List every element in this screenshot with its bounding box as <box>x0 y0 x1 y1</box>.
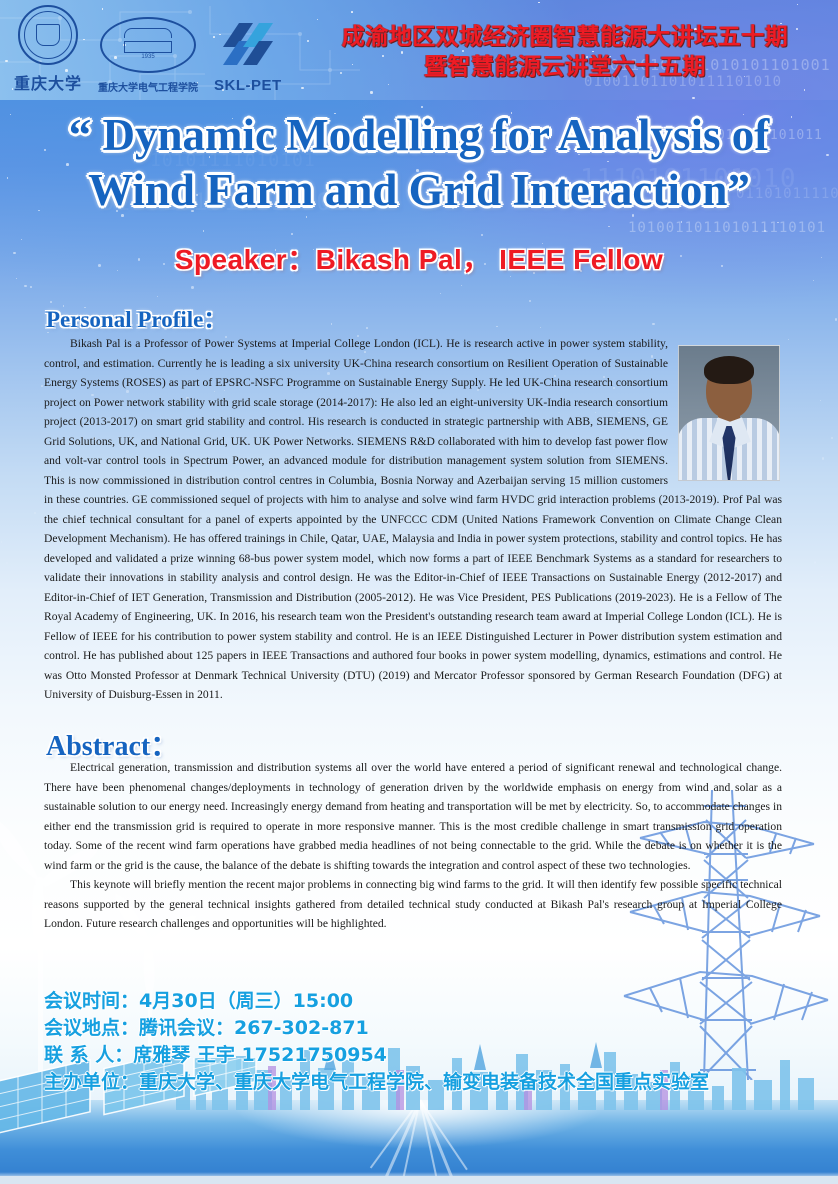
meeting-time: 会议时间：4月30日（周三）15:00 <box>44 988 709 1015</box>
meeting-info-block: 会议时间：4月30日（周三）15:00 会议地点：腾讯会议：267-302-87… <box>44 988 709 1096</box>
abstract-paragraph-1: Electrical generation, transmission and … <box>44 758 782 875</box>
series-title: 成渝地区双城经济圈智慧能源大讲坛五十期 暨智慧能源云讲堂六十五期 <box>330 22 800 83</box>
logo-row: 重庆大学 1935 重庆大学电气工程学院 SKL-PET <box>14 12 282 94</box>
poster-root: 0110101111010101101001 01001101101011110… <box>0 0 838 1184</box>
personal-profile-paragraph: Bikash Pal is a Professor of Power Syste… <box>44 334 782 705</box>
bottom-seam <box>0 1176 838 1184</box>
logo-skl-pet: SKL-PET <box>214 17 282 94</box>
logo-caption-skl-pet: SKL-PET <box>214 77 282 94</box>
personal-profile-heading: Personal Profile： <box>46 300 226 334</box>
chongqing-university-seal-icon <box>18 5 78 65</box>
series-title-line1: 成渝地区双城经济圈智慧能源大讲坛五十期 <box>330 22 800 52</box>
meeting-organizers: 主办单位：重庆大学、重庆大学电气工程学院、输变电装备技术全国重点实验室 <box>44 1069 709 1096</box>
lecture-title-line1: “ Dynamic Modelling for Analysis of <box>40 108 798 163</box>
logo-caption-cqu: 重庆大学 <box>14 70 82 94</box>
portrait-text-wrap-spacer <box>678 336 782 474</box>
speaker-line: Speaker：Bikash Pal， IEEE Fellow <box>40 238 798 278</box>
meeting-contact: 联 系 人：席雅琴 王宇 17521750954 <box>44 1042 709 1069</box>
lecture-title: “ Dynamic Modelling for Analysis of Wind… <box>40 108 798 218</box>
ee-college-seal-icon: 1935 <box>100 17 196 73</box>
series-title-line2: 暨智慧能源云讲堂六十五期 <box>330 52 800 82</box>
skl-pet-mark-icon <box>217 17 279 71</box>
meeting-place: 会议地点：腾讯会议：267-302-871 <box>44 1015 709 1042</box>
logo-caption-ee-college: 重庆大学电气工程学院 <box>98 79 198 94</box>
abstract-paragraph-2: This keynote will briefly mention the re… <box>44 875 782 934</box>
personal-profile-text: Bikash Pal is a Professor of Power Syste… <box>44 334 782 705</box>
ee-college-year: 1935 <box>141 54 154 60</box>
abstract-text: Electrical generation, transmission and … <box>44 758 782 934</box>
logo-chongqing-university: 重庆大学 <box>14 5 82 94</box>
lecture-title-line2: Wind Farm and Grid Interaction” <box>40 163 798 218</box>
logo-electrical-engineering-college: 1935 重庆大学电气工程学院 <box>98 17 198 94</box>
